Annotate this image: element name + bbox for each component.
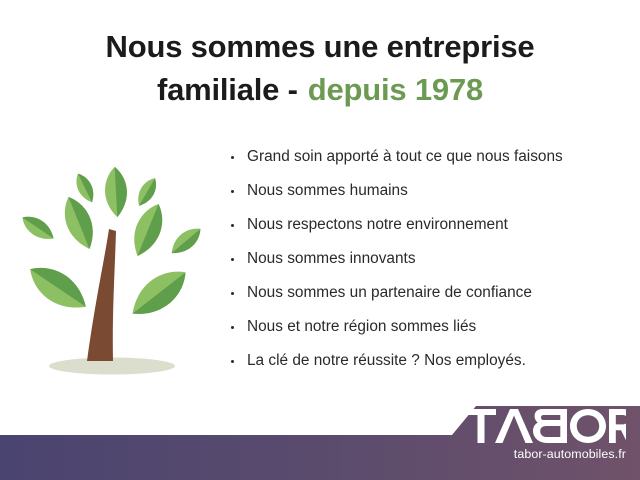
list-item-label: Nous sommes un partenaire de confiance	[247, 284, 532, 301]
list-item-label: Nous et notre région sommes liés	[247, 318, 476, 335]
slide-canvas: Nous sommes une entreprise familiale -de…	[0, 0, 640, 480]
list-item: La clé de notre réussite ? Nos employés.	[228, 352, 628, 370]
list-item-label: Nous sommes humains	[247, 182, 408, 199]
tabor-wordmark-icon	[446, 409, 626, 443]
list-item: Nous respectons notre environnement	[228, 216, 628, 234]
tree-trunk	[87, 229, 116, 361]
list-item-label: Nous sommes innovants	[247, 250, 416, 267]
list-item: Nous sommes humains	[228, 182, 628, 200]
bullet-dot-icon	[231, 258, 234, 261]
list-item-label: Nous respectons notre environnement	[247, 216, 508, 233]
value-bullet-list: Grand soin apporté à tout ce que nous fa…	[228, 148, 628, 386]
page-title: Nous sommes une entreprise familiale -de…	[0, 26, 640, 112]
bullet-dot-icon	[231, 360, 234, 363]
bullet-dot-icon	[231, 292, 234, 295]
bullet-dot-icon	[231, 224, 234, 227]
list-item-label: Grand soin apporté à tout ce que nous fa…	[247, 148, 563, 165]
list-item: Nous sommes innovants	[228, 250, 628, 268]
list-item-label: La clé de notre réussite ? Nos employés.	[247, 352, 526, 369]
tree-illustration	[12, 152, 212, 388]
list-item: Nous et notre région sommes liés	[228, 318, 628, 336]
brand-logo: tabor-automobiles.fr	[446, 409, 626, 461]
page-title-line-1: Nous sommes une entreprise	[0, 26, 640, 69]
page-title-accent: depuis 1978	[308, 72, 483, 107]
list-item: Nous sommes un partenaire de confiance	[228, 284, 628, 302]
bullet-dot-icon	[231, 190, 234, 193]
bullet-dot-icon	[231, 326, 234, 329]
bullet-dot-icon	[231, 156, 234, 159]
page-title-line-2-main: familiale -	[157, 72, 298, 107]
page-title-line-2: familiale -depuis 1978	[0, 69, 640, 112]
list-item: Grand soin apporté à tout ce que nous fa…	[228, 148, 628, 166]
brand-tagline: tabor-automobiles.fr	[446, 447, 626, 461]
